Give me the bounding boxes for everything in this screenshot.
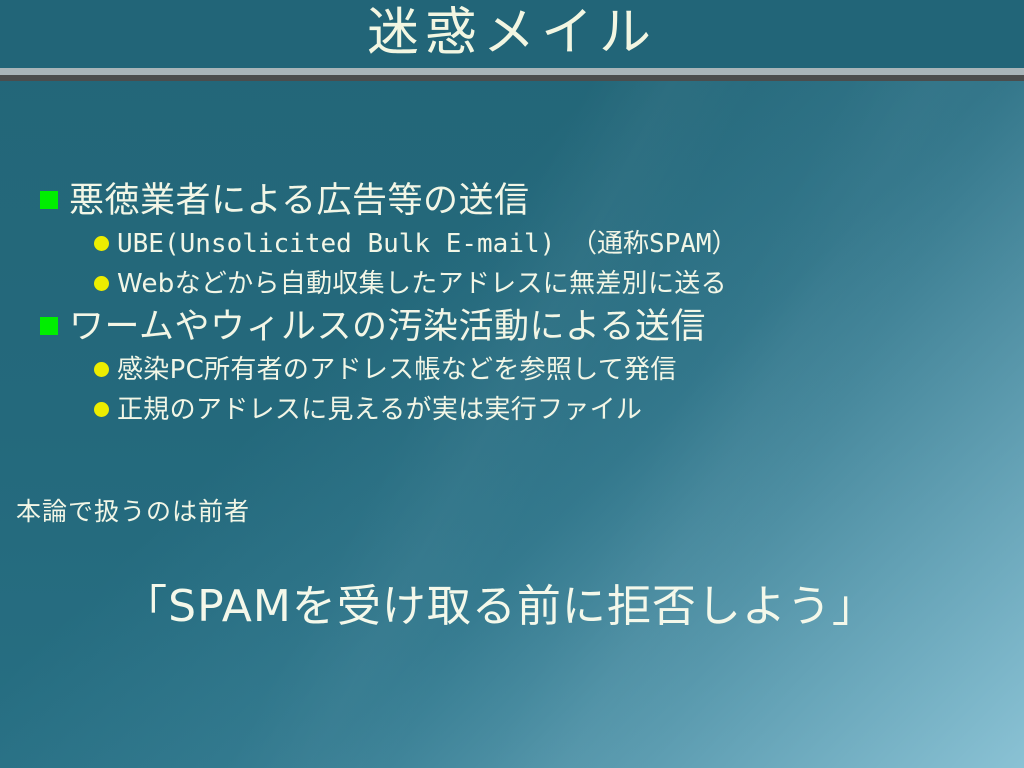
list-item: 正規のアドレスに見えるが実は実行ファイル — [0, 391, 1024, 429]
yellow-round-bullet-icon — [94, 402, 109, 417]
list-item: 感染PC所有者のアドレス帳などを参照して発信 — [0, 351, 1024, 389]
list-item-label: 正規のアドレスに見えるが実は実行ファイル — [117, 391, 642, 429]
list-item: UBE(Unsolicited Bulk E-mail) （通称SPAM） — [0, 225, 1024, 263]
yellow-round-bullet-icon — [94, 362, 109, 377]
yellow-round-bullet-icon — [94, 276, 109, 291]
presentation-slide: 迷惑メイル 悪徳業者による広告等の送信 UBE(Unsolicited Bulk… — [0, 0, 1024, 768]
list-item: Webなどから自動収集したアドレスに無差別に送る — [0, 265, 1024, 303]
page-title: 迷惑メイル — [0, 2, 1024, 64]
title-divider-light — [0, 68, 1024, 75]
list-item-label: 感染PC所有者のアドレス帳などを参照して発信 — [117, 351, 677, 389]
note-text: 本論で扱うのは前者 — [16, 496, 250, 528]
list-item-label: ワームやウィルスの汚染活動による送信 — [69, 305, 706, 350]
yellow-round-bullet-icon — [94, 236, 109, 251]
list-item-label: Webなどから自動収集したアドレスに無差別に送る — [117, 265, 727, 303]
closing-statement: 「SPAMを受け取る前に拒否しよう」 — [0, 578, 1024, 636]
slide-body: 悪徳業者による広告等の送信 UBE(Unsolicited Bulk E-mai… — [0, 81, 1024, 768]
bullet-list: 悪徳業者による広告等の送信 UBE(Unsolicited Bulk E-mai… — [0, 179, 1024, 431]
title-band: 迷惑メイル — [0, 0, 1024, 68]
green-square-bullet-icon — [40, 317, 58, 335]
list-item: ワームやウィルスの汚染活動による送信 — [0, 305, 1024, 350]
green-square-bullet-icon — [40, 191, 58, 209]
list-item: 悪徳業者による広告等の送信 — [0, 179, 1024, 224]
list-item-label: UBE(Unsolicited Bulk E-mail) （通称SPAM） — [117, 225, 738, 263]
list-item-label: 悪徳業者による広告等の送信 — [69, 179, 529, 224]
